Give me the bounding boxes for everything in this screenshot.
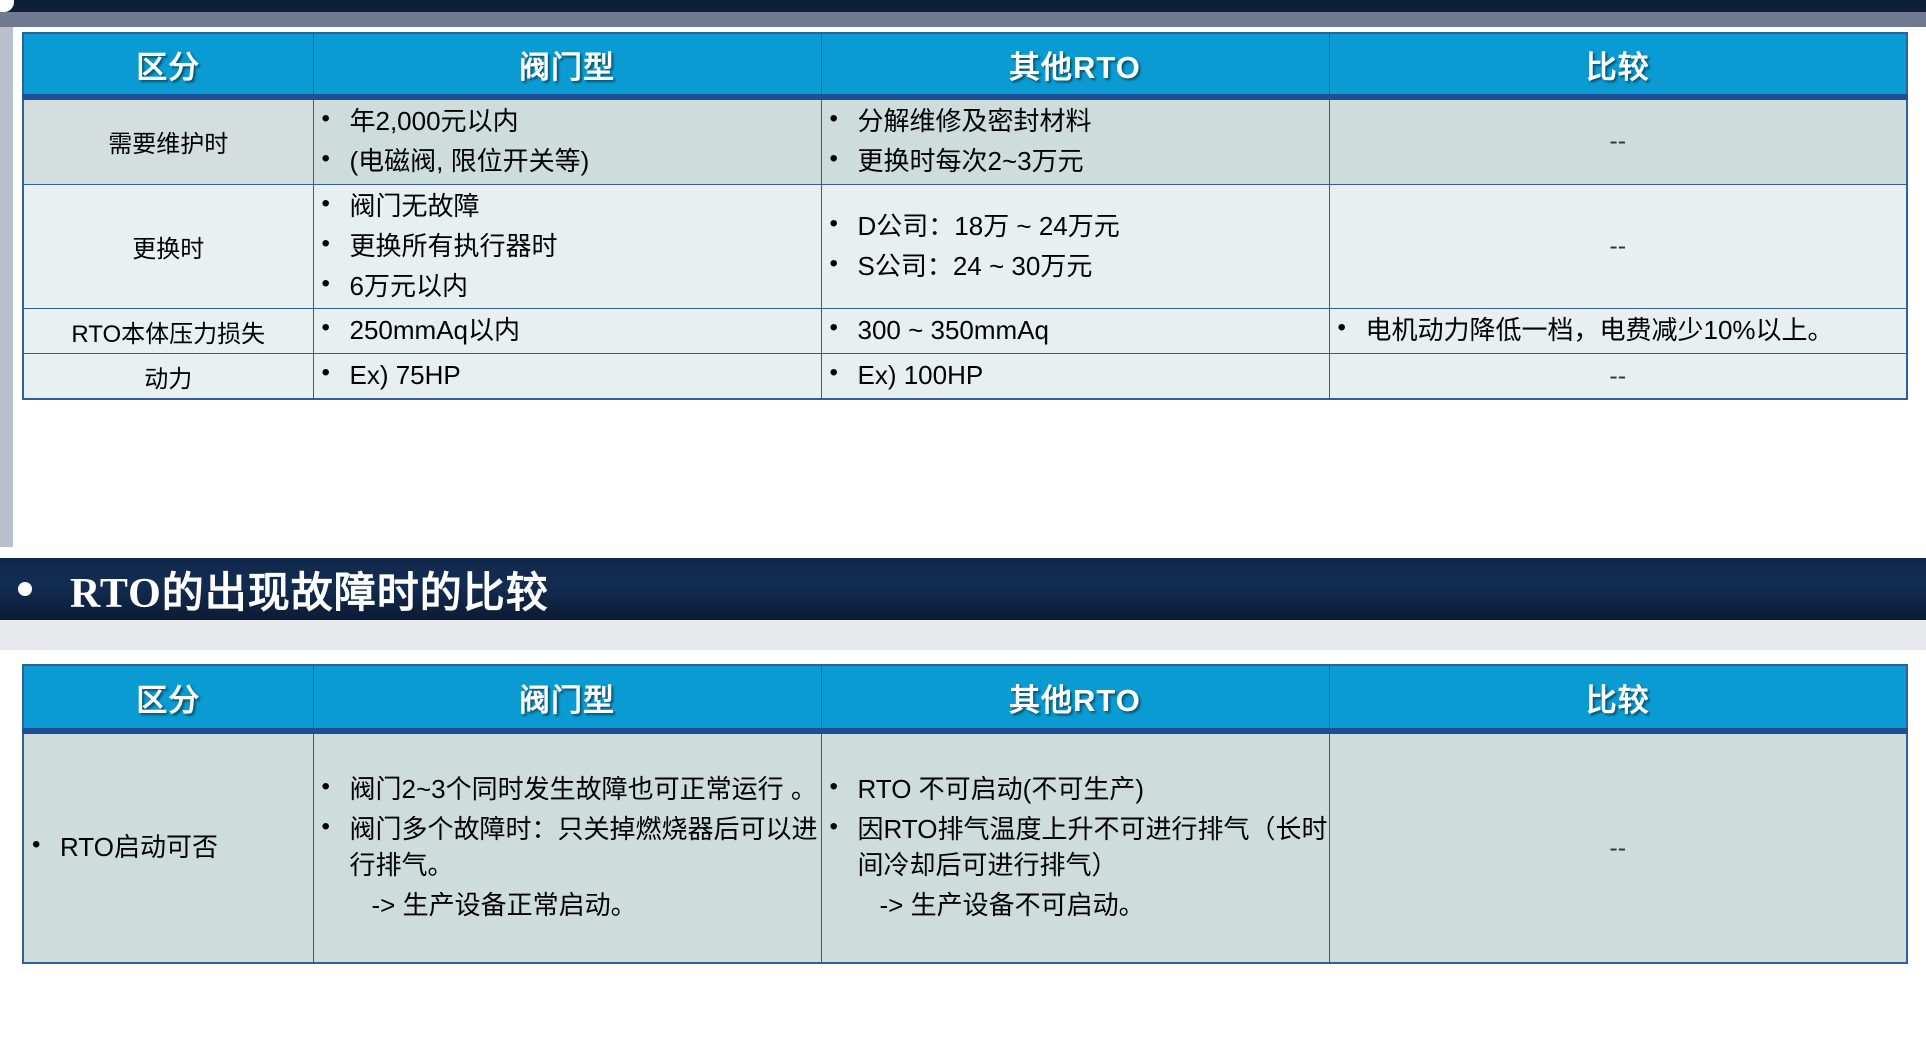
- cell-comparison-maintenance: --: [1329, 97, 1907, 184]
- bullet-list: 阀门2~3个同时发生故障也可正常运行 。 阀门多个故障时：只关掉燃烧器后可以进行…: [314, 772, 821, 924]
- table-row: RTO启动可否 阀门2~3个同时发生故障也可正常运行 。 阀门多个故障时：只关掉…: [23, 731, 1907, 963]
- list-item: 300 ~ 350mmAq: [822, 313, 1329, 349]
- list-item-note: -> 生产设备不可启动。: [822, 888, 1329, 924]
- list-item: 6万元以内: [314, 269, 821, 305]
- list-item: 阀门2~3个同时发生故障也可正常运行 。: [314, 772, 821, 808]
- bullet-list: RTO 不可启动(不可生产) 因RTO排气温度上升不可进行排气（长时间冷却后可进…: [822, 772, 1329, 924]
- bullet-list: 250mmAq以内: [314, 313, 821, 349]
- cell-other-rto-power: Ex) 100HP: [821, 354, 1329, 399]
- cell-valve-maintenance: 年2,000元以内 (电磁阀, 限位开关等): [313, 97, 821, 184]
- list-item: Ex) 75HP: [314, 358, 821, 394]
- list-item-note: -> 生产设备正常启动。: [314, 888, 821, 924]
- bullet-list: 阀门无故障 更换所有执行器时 6万元以内: [314, 189, 821, 305]
- table-row: RTO本体压力损失 250mmAq以内 300 ~ 350mmAq 电机动力降低…: [23, 309, 1907, 354]
- list-item: 分解维修及密封材料: [822, 104, 1329, 140]
- cell-comparison-startup: --: [1329, 731, 1907, 963]
- failure-comparison-table: 区分 阀门型 其他RTO 比较 RTO启动可否 阀门2~3个同时发生故障也可正常…: [22, 664, 1908, 964]
- row-label-maintenance: 需要维护时: [23, 97, 313, 184]
- cell-valve-power: Ex) 75HP: [313, 354, 821, 399]
- bottom-white-strip: [0, 1000, 1926, 1044]
- cell-comparison-power: --: [1329, 354, 1907, 399]
- column-header-valve-type-2: 阀门型: [313, 665, 821, 731]
- bullet-list: 分解维修及密封材料 更换时每次2~3万元: [822, 104, 1329, 180]
- list-item: 年2,000元以内: [314, 104, 821, 140]
- list-item: RTO启动可否: [24, 830, 313, 866]
- table-row: 需要维护时 年2,000元以内 (电磁阀, 限位开关等) 分解维修及密封材料 更…: [23, 97, 1907, 184]
- cell-other-rto-maintenance: 分解维修及密封材料 更换时每次2~3万元: [821, 97, 1329, 184]
- column-header-category-2: 区分: [23, 665, 313, 731]
- column-header-other-rto: 其他RTO: [821, 33, 1329, 97]
- bullet-list: 年2,000元以内 (电磁阀, 限位开关等): [314, 104, 821, 180]
- list-item: 阀门无故障: [314, 189, 821, 225]
- row-label-pressure-loss: RTO本体压力损失: [23, 309, 313, 354]
- list-item: 250mmAq以内: [314, 313, 821, 349]
- list-item: 阀门多个故障时：只关掉燃烧器后可以进行排气。: [314, 812, 821, 884]
- column-header-valve-type: 阀门型: [313, 33, 821, 97]
- top-left-corner-notch: [0, 0, 14, 12]
- banner-underline-strip: [0, 620, 1926, 650]
- list-item: Ex) 100HP: [822, 358, 1329, 394]
- table-row: 动力 Ex) 75HP Ex) 100HP --: [23, 354, 1907, 399]
- table-row: 更换时 阀门无故障 更换所有执行器时 6万元以内 D公司：18万 ~ 24万元 …: [23, 184, 1907, 309]
- left-gray-rail: [0, 27, 13, 547]
- row-label-power: 动力: [23, 354, 313, 399]
- list-item: D公司：18万 ~ 24万元: [822, 209, 1329, 245]
- table-two-header-row: 区分 阀门型 其他RTO 比较: [23, 665, 1907, 731]
- cell-valve-replacement: 阀门无故障 更换所有执行器时 6万元以内: [313, 184, 821, 309]
- bullet-list: 300 ~ 350mmAq: [822, 313, 1329, 349]
- row-label-replacement: 更换时: [23, 184, 313, 309]
- list-item: S公司：24 ~ 30万元: [822, 249, 1329, 285]
- column-header-other-rto-2: 其他RTO: [821, 665, 1329, 731]
- list-item: 电机动力降低一档，电费减少10%以上。: [1330, 313, 1907, 349]
- cell-other-rto-pressure-loss: 300 ~ 350mmAq: [821, 309, 1329, 354]
- list-item: 更换所有执行器时: [314, 229, 821, 265]
- bullet-list: RTO启动可否: [24, 830, 313, 866]
- list-item: (电磁阀, 限位开关等): [314, 144, 821, 180]
- bullet-list: 电机动力降低一档，电费减少10%以上。: [1330, 313, 1907, 349]
- section-banner: RTO的出现故障时的比较: [0, 558, 1926, 620]
- section-title: RTO的出现故障时的比较: [70, 559, 549, 620]
- maintenance-comparison-table: 区分 阀门型 其他RTO 比较 需要维护时 年2,000元以内 (电磁阀, 限位…: [22, 32, 1908, 400]
- row-label-rto-startup: RTO启动可否: [23, 731, 313, 963]
- cell-other-rto-replacement: D公司：18万 ~ 24万元 S公司：24 ~ 30万元: [821, 184, 1329, 309]
- bullet-list: D公司：18万 ~ 24万元 S公司：24 ~ 30万元: [822, 209, 1329, 285]
- cell-other-rto-startup: RTO 不可启动(不可生产) 因RTO排气温度上升不可进行排气（长时间冷却后可进…: [821, 731, 1329, 963]
- column-header-comparison-2: 比较: [1329, 665, 1907, 731]
- list-item: 更换时每次2~3万元: [822, 144, 1329, 180]
- bullet-dot-icon: [18, 582, 32, 596]
- column-header-category: 区分: [23, 33, 313, 97]
- column-header-comparison: 比较: [1329, 33, 1907, 97]
- cell-valve-pressure-loss: 250mmAq以内: [313, 309, 821, 354]
- bullet-list: Ex) 75HP: [314, 358, 821, 394]
- list-item: RTO 不可启动(不可生产): [822, 772, 1329, 808]
- list-item: 因RTO排气温度上升不可进行排气（长时间冷却后可进行排气）: [822, 812, 1329, 884]
- top-gray-strip: [0, 12, 1926, 27]
- cell-valve-startup: 阀门2~3个同时发生故障也可正常运行 。 阀门多个故障时：只关掉燃烧器后可以进行…: [313, 731, 821, 963]
- top-dark-strip: [0, 0, 1926, 12]
- cell-comparison-pressure-loss: 电机动力降低一档，电费减少10%以上。: [1329, 309, 1907, 354]
- bullet-list: Ex) 100HP: [822, 358, 1329, 394]
- table-one-header-row: 区分 阀门型 其他RTO 比较: [23, 33, 1907, 97]
- cell-comparison-replacement: --: [1329, 184, 1907, 309]
